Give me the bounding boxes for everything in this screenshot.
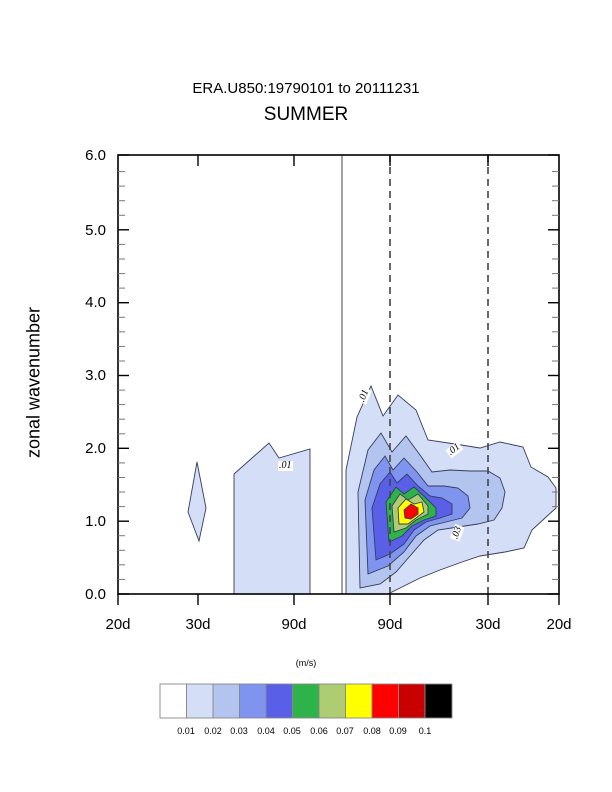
x-tick-label-2: 90d	[264, 617, 324, 632]
contour-label-01-west: .01	[278, 461, 293, 471]
colorbar-swatch	[319, 684, 346, 718]
colorbar-swatch	[399, 684, 426, 718]
x-tick-label-4: 30d	[458, 617, 518, 632]
contour-fill-group	[188, 386, 556, 594]
colorbar-swatch	[213, 684, 240, 718]
y-tick-label-0: 0.0	[60, 587, 106, 602]
figure-title-line2: SUMMER	[0, 104, 612, 126]
x-tick-label-3: 90d	[360, 617, 420, 632]
colorbar	[160, 684, 452, 718]
colorbar-swatch	[372, 684, 399, 718]
y-tick-label-2: 2.0	[60, 441, 106, 456]
y-tick-label-4: 4.0	[60, 295, 106, 310]
colorbar-swatch	[266, 684, 293, 718]
colorbar-swatch	[293, 684, 320, 718]
figure-title-line1: ERA.U850:19790101 to 20111231	[0, 80, 612, 97]
colorbar-swatch	[425, 684, 452, 718]
x-tick-label-0: 20d	[88, 617, 148, 632]
y-axis-label: zonal wavenumber	[24, 253, 45, 513]
y-tick-label-3: 3.0	[60, 368, 106, 383]
colorbar-units-label: (m/s)	[0, 658, 612, 668]
x-tick-label-5: 20d	[529, 617, 589, 632]
colorbar-swatch	[240, 684, 267, 718]
y-tick-label-5: 5.0	[60, 223, 106, 238]
contour-band-0.01-island	[188, 462, 206, 541]
colorbar-swatch	[160, 684, 187, 718]
colorbar-label-9: 0.1	[405, 726, 445, 736]
colorbar-swatches	[160, 684, 452, 718]
x-tick-label-1: 30d	[168, 617, 228, 632]
colorbar-swatch	[346, 684, 373, 718]
y-tick-label-1: 1.0	[60, 514, 106, 529]
contour-band-0.01-west	[234, 443, 310, 594]
colorbar-swatch	[187, 684, 214, 718]
y-tick-label-6: 6.0	[60, 148, 106, 163]
